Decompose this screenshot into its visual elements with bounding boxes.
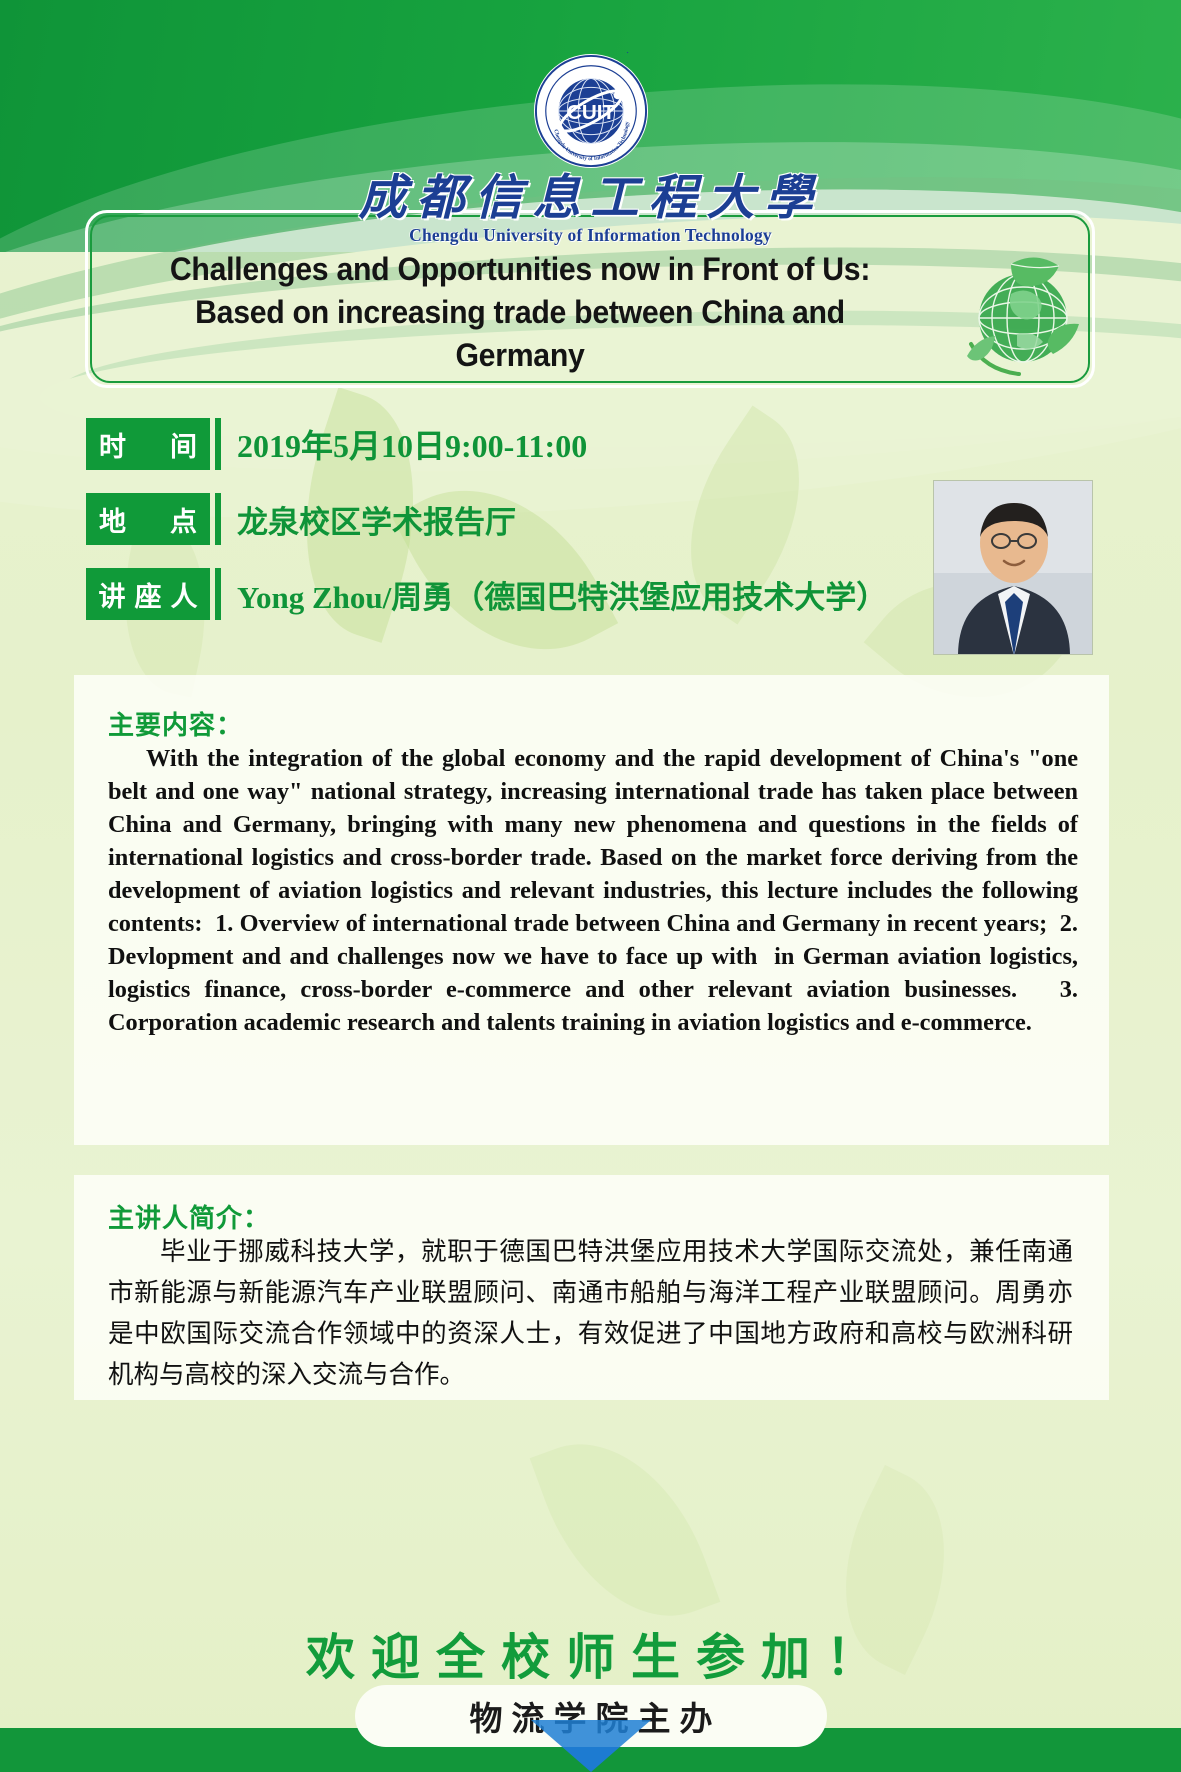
footer-triangle-inner — [531, 1720, 651, 1772]
lecture-title: Challenges and Opportunities now in Fron… — [157, 248, 882, 378]
info-rows: 时 间 2019年5月10日9:00-11:00 地 点 龙泉校区学术报告厅 讲… — [86, 418, 986, 643]
info-row-location: 地 点 龙泉校区学术报告厅 — [86, 493, 986, 545]
info-divider-time — [215, 418, 221, 470]
main-content-body: With the integration of the global econo… — [108, 742, 1078, 1039]
svg-text:CUIT: CUIT — [566, 101, 615, 124]
info-label-time-char-2: 间 — [170, 425, 197, 464]
info-label-speaker: 讲 座 人 — [86, 568, 210, 620]
info-row-speaker: 讲 座 人 Yong Zhou/周勇（德国巴特洪堡应用技术大学） — [86, 568, 986, 620]
speaker-bio-heading: 主讲人简介： — [108, 1198, 270, 1235]
info-row-time: 时 间 2019年5月10日9:00-11:00 — [86, 418, 986, 470]
leaf-watermark-6 — [530, 1414, 721, 1646]
info-label-time-char-1: 时 — [99, 425, 126, 464]
speaker-photo-icon — [934, 481, 1093, 655]
info-label-location-char-2: 点 — [170, 500, 197, 539]
welcome-message: 欢迎全校师生参加！ — [0, 1618, 1181, 1689]
main-content-heading: 主要内容： — [108, 705, 243, 742]
info-label-location-char-1: 地 — [99, 500, 126, 539]
info-label-time: 时 间 — [86, 418, 210, 470]
info-label-speaker-char-1: 讲 — [99, 575, 126, 614]
university-name-en: Chengdu University of Information Techno… — [0, 225, 1181, 246]
info-value-time: 2019年5月10日9:00-11:00 — [237, 421, 587, 467]
info-divider-location — [215, 493, 221, 545]
university-branding: CUIT 成 都 信 息 工 程 大 學 Chengdu University … — [0, 52, 1181, 246]
info-label-speaker-char-2: 座 — [135, 575, 162, 614]
globe-leaf-emblem-icon — [953, 248, 1085, 386]
lecture-poster: CUIT 成 都 信 息 工 程 大 學 Chengdu University … — [0, 0, 1181, 1772]
speaker-bio-body: 毕业于挪威科技大学，就职于德国巴特洪堡应用技术大学国际交流处，兼任南通市新能源与… — [108, 1232, 1073, 1396]
info-label-location: 地 点 — [86, 493, 210, 545]
info-value-speaker: Yong Zhou/周勇（德国巴特洪堡应用技术大学） — [237, 572, 887, 617]
info-label-speaker-char-3: 人 — [171, 575, 198, 614]
speaker-portrait — [933, 480, 1093, 655]
info-value-location: 龙泉校区学术报告厅 — [237, 497, 516, 542]
university-name-cn: 成都信息工程大學 — [0, 174, 1181, 224]
info-divider-speaker — [215, 568, 221, 620]
cuit-logo-icon: CUIT 成 都 信 息 工 程 大 學 Chengdu University … — [532, 52, 650, 170]
